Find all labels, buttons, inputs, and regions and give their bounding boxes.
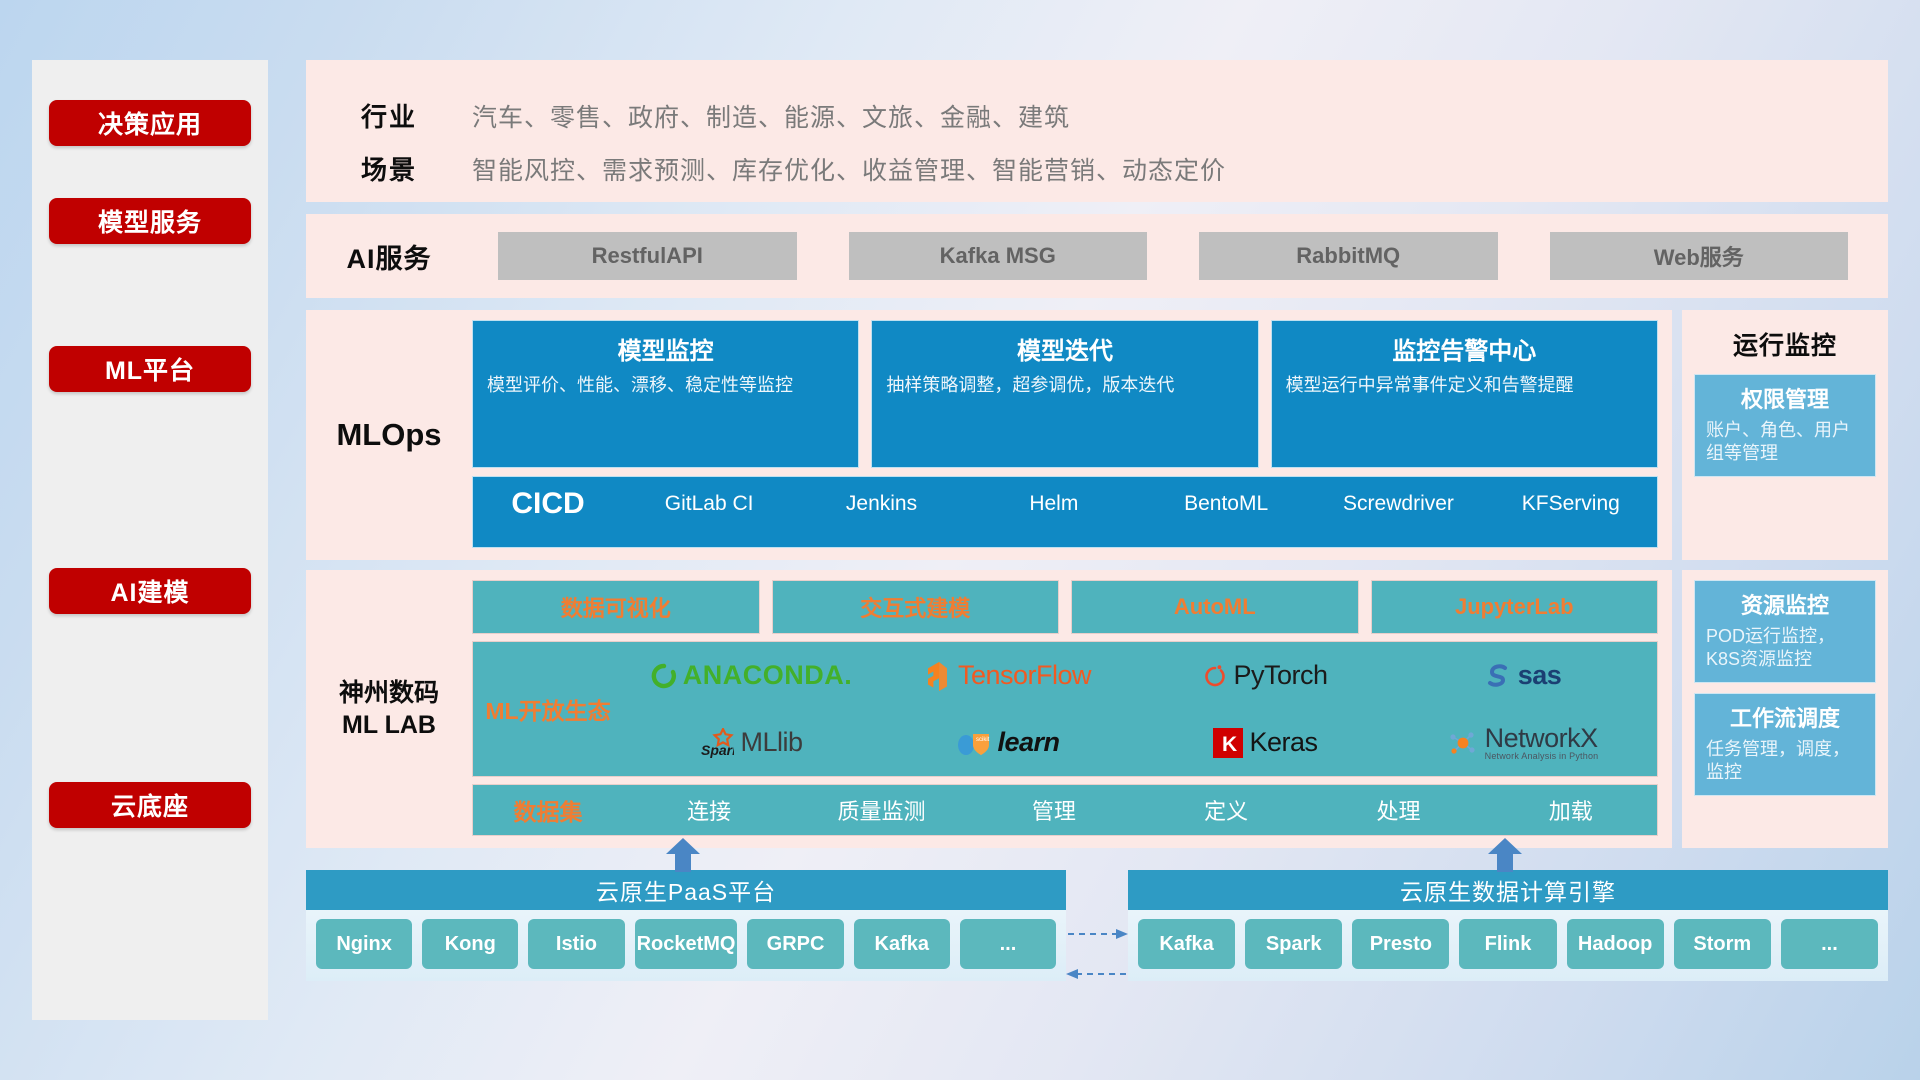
logo-pytorch: PyTorch xyxy=(1203,660,1327,691)
svg-text:Spark: Spark xyxy=(701,742,734,758)
ml-lab-tabs: 数据可视化 交互式建模 AutoML JupyterLab xyxy=(472,580,1658,634)
logo-keras: K Keras xyxy=(1213,727,1317,758)
ai-service-band: AI服务 RestfulAPI Kafka MSG RabbitMQ Web服务 xyxy=(306,214,1888,298)
paas-chip-kong[interactable]: Kong xyxy=(422,919,518,969)
learn-label: learn xyxy=(997,727,1059,758)
tensorflow-icon xyxy=(926,661,952,691)
engine-chip-kafka[interactable]: Kafka xyxy=(1138,919,1235,969)
main-column: 行业 汽车、零售、政府、制造、能源、文旅、金融、建筑 场景 智能风控、需求预测、… xyxy=(306,60,1888,1006)
paas-chip-rocketmq[interactable]: RocketMQ xyxy=(635,919,738,969)
ai-service-chip-web-service[interactable]: Web服务 xyxy=(1550,232,1849,280)
networkx-icon xyxy=(1447,728,1479,758)
mlops-card-alert-center[interactable]: 监控告警中心 模型运行中异常事件定义和告警提醒 xyxy=(1271,320,1658,468)
card-title: 模型迭代 xyxy=(886,331,1243,366)
ai-service-chip-kafka-msg[interactable]: Kafka MSG xyxy=(849,232,1148,280)
networkx-sublabel: Network Analysis in Python xyxy=(1485,752,1599,761)
dataset-item-manage[interactable]: 管理 xyxy=(968,794,1140,826)
engine-chip-presto[interactable]: Presto xyxy=(1352,919,1449,969)
dataset-item-define[interactable]: 定义 xyxy=(1140,794,1312,826)
ml-lab-key-line1: 神州数码 xyxy=(339,677,439,710)
ml-ecosystem-panel: ML开放生态 ANACONDA. xyxy=(472,641,1658,777)
cicd-row: CICD GitLab CI Jenkins Helm BentoML Scre… xyxy=(472,476,1658,548)
ai-service-key: AI服务 xyxy=(306,237,472,276)
up-arrow-icon-paas xyxy=(666,838,700,872)
ml-lab-panel: 神州数码 ML LAB 数据可视化 交互式建模 AutoML JupyterLa… xyxy=(306,570,1672,848)
ml-lab-key: 神州数码 ML LAB xyxy=(306,570,472,848)
up-arrow-icon-data-engine xyxy=(1488,838,1522,872)
tab-jupyterlab[interactable]: JupyterLab xyxy=(1371,580,1659,634)
rail-item-decision-apps[interactable]: 决策应用 xyxy=(49,100,251,146)
ai-service-chip-restfulapi[interactable]: RestfulAPI xyxy=(498,232,797,280)
paas-chip-nginx[interactable]: Nginx xyxy=(316,919,412,969)
paas-chip-istio[interactable]: Istio xyxy=(528,919,624,969)
ml-platform-band: MLOps 模型监控 模型评价、性能、漂移、稳定性等监控 模型迭代 抽样策略调整… xyxy=(306,310,1888,560)
logo-sas: sas xyxy=(1484,660,1562,691)
data-engine-chips: Kafka Spark Presto Flink Hadoop Storm ..… xyxy=(1128,910,1888,981)
ai-service-chip-rabbitmq[interactable]: RabbitMQ xyxy=(1199,232,1498,280)
rail-label: 决策应用 xyxy=(98,105,202,141)
card-title: 权限管理 xyxy=(1706,382,1864,414)
card-desc: POD运行监控，K8S资源监控 xyxy=(1706,625,1864,672)
monitoring-title: 运行监控 xyxy=(1694,326,1876,362)
monitoring-panel-bottom: 资源监控 POD运行监控，K8S资源监控 工作流调度 任务管理，调度，监控 xyxy=(1682,570,1888,848)
card-title: 工作流调度 xyxy=(1706,701,1864,733)
tab-data-visualization[interactable]: 数据可视化 xyxy=(472,580,760,634)
cicd-item-screwdriver[interactable]: Screwdriver xyxy=(1312,485,1484,519)
mlops-card-model-monitoring[interactable]: 模型监控 模型评价、性能、漂移、稳定性等监控 xyxy=(472,320,859,468)
cicd-title: CICD xyxy=(473,485,623,521)
rail-label: 云底座 xyxy=(111,787,189,823)
card-desc: 抽样策略调整，超参调优，版本迭代 xyxy=(886,374,1243,398)
dataset-item-connect[interactable]: 连接 xyxy=(623,794,795,826)
card-desc: 账户、角色、用户组等管理 xyxy=(1706,419,1864,466)
cloud-base-band: 云原生PaaS平台 Nginx Kong Istio RocketMQ GRPC… xyxy=(306,870,1888,1006)
paas-title: 云原生PaaS平台 xyxy=(306,870,1066,910)
dataset-item-process[interactable]: 处理 xyxy=(1312,794,1484,826)
svg-text:scikit: scikit xyxy=(976,737,990,743)
ai-modeling-band: 神州数码 ML LAB 数据可视化 交互式建模 AutoML JupyterLa… xyxy=(306,570,1888,848)
rail-item-model-service[interactable]: 模型服务 xyxy=(49,198,251,244)
mllib-label: MLlib xyxy=(740,727,802,758)
data-engine-title: 云原生数据计算引擎 xyxy=(1128,870,1888,910)
card-title: 模型监控 xyxy=(487,331,844,366)
rail-item-ai-modeling[interactable]: AI建模 xyxy=(49,568,251,614)
cicd-item-gitlab-ci[interactable]: GitLab CI xyxy=(623,485,795,519)
cicd-item-bentoml[interactable]: BentoML xyxy=(1140,485,1312,519)
cicd-item-helm[interactable]: Helm xyxy=(968,485,1140,519)
monitoring-card-resource[interactable]: 资源监控 POD运行监控，K8S资源监控 xyxy=(1694,580,1876,683)
mlops-body: 模型监控 模型评价、性能、漂移、稳定性等监控 模型迭代 抽样策略调整，超参调优，… xyxy=(472,310,1672,560)
logo-spark-mllib: Spark MLlib xyxy=(700,727,802,758)
mlops-card-model-iteration[interactable]: 模型迭代 抽样策略调整，超参调优，版本迭代 xyxy=(871,320,1258,468)
paas-chip-kafka[interactable]: Kafka xyxy=(854,919,950,969)
left-rail: 决策应用 模型服务 ML平台 AI建模 云底座 xyxy=(32,60,268,1020)
diagram-canvas: 决策应用 模型服务 ML平台 AI建模 云底座 行业 汽车、零售、政府、制造、能… xyxy=(0,0,1920,1080)
logo-tensorflow: TensorFlow xyxy=(926,660,1091,691)
keras-icon: K xyxy=(1213,728,1243,758)
card-title: 资源监控 xyxy=(1706,588,1864,620)
keras-label: Keras xyxy=(1249,727,1317,758)
rail-label: AI建模 xyxy=(110,573,189,609)
anaconda-label: ANACONDA. xyxy=(683,660,853,691)
paas-chip-grpc[interactable]: GRPC xyxy=(747,919,843,969)
engine-chip-more[interactable]: ... xyxy=(1781,919,1878,969)
anaconda-icon xyxy=(651,663,677,689)
data-engine-column: 云原生数据计算引擎 Kafka Spark Presto Flink Hadoo… xyxy=(1128,870,1888,1006)
ml-ecosystem-logos: ANACONDA. TensorFlow xyxy=(623,642,1657,776)
card-title: 监控告警中心 xyxy=(1286,331,1643,366)
spark-icon: Spark xyxy=(700,728,734,758)
bidirectional-link-arrows xyxy=(1066,918,1128,990)
ml-lab-key-line2: ML LAB xyxy=(342,709,436,742)
engine-chip-hadoop[interactable]: Hadoop xyxy=(1567,919,1664,969)
rail-label: ML平台 xyxy=(105,351,195,387)
logo-scikit-learn: scikit learn xyxy=(957,727,1059,758)
paas-chip-more[interactable]: ... xyxy=(960,919,1056,969)
mlops-cards: 模型监控 模型评价、性能、漂移、稳定性等监控 模型迭代 抽样策略调整，超参调优，… xyxy=(472,320,1658,468)
scenario-value: 智能风控、需求预测、库存优化、收益管理、智能营销、动态定价 xyxy=(472,151,1226,187)
dataset-row: 数据集 连接 质量监测 管理 定义 处理 加载 xyxy=(472,784,1658,836)
card-desc: 任务管理，调度，监控 xyxy=(1706,738,1864,785)
paas-chips: Nginx Kong Istio RocketMQ GRPC Kafka ... xyxy=(306,910,1066,981)
monitoring-panel-top: 运行监控 权限管理 账户、角色、用户组等管理 xyxy=(1682,310,1888,560)
monitoring-card-permissions[interactable]: 权限管理 账户、角色、用户组等管理 xyxy=(1694,374,1876,477)
logo-anaconda: ANACONDA. xyxy=(651,660,853,691)
engine-chip-storm[interactable]: Storm xyxy=(1674,919,1771,969)
engine-chip-flink[interactable]: Flink xyxy=(1459,919,1556,969)
industry-key: 行业 xyxy=(306,97,472,134)
card-desc: 模型评价、性能、漂移、稳定性等监控 xyxy=(487,374,844,398)
networkx-label: NetworkX xyxy=(1485,725,1599,752)
pytorch-label: PyTorch xyxy=(1233,660,1327,691)
rail-item-cloud-base[interactable]: 云底座 xyxy=(49,782,251,828)
ai-service-items: RestfulAPI Kafka MSG RabbitMQ Web服务 xyxy=(472,232,1888,280)
ml-ecosystem-key: ML开放生态 xyxy=(473,692,623,726)
svg-text:K: K xyxy=(1222,733,1237,756)
pytorch-icon xyxy=(1203,662,1227,690)
card-desc: 模型运行中异常事件定义和告警提醒 xyxy=(1286,374,1643,398)
dataset-item-quality-monitoring[interactable]: 质量监测 xyxy=(795,794,967,826)
logo-networkx: NetworkX Network Analysis in Python xyxy=(1447,725,1599,761)
industry-value: 汽车、零售、政府、制造、能源、文旅、金融、建筑 xyxy=(472,98,1070,134)
scikit-learn-icon: scikit xyxy=(957,728,991,758)
mlops-panel: MLOps 模型监控 模型评价、性能、漂移、稳定性等监控 模型迭代 抽样策略调整… xyxy=(306,310,1672,560)
rail-label: 模型服务 xyxy=(98,203,202,239)
tab-automl[interactable]: AutoML xyxy=(1071,580,1359,634)
monitoring-card-workflow[interactable]: 工作流调度 任务管理，调度，监控 xyxy=(1694,693,1876,796)
rail-item-ml-platform[interactable]: ML平台 xyxy=(49,346,251,392)
industry-row: 行业 汽车、零售、政府、制造、能源、文旅、金融、建筑 xyxy=(306,97,1888,134)
sas-icon xyxy=(1484,663,1512,689)
engine-chip-spark[interactable]: Spark xyxy=(1245,919,1342,969)
cicd-item-jenkins[interactable]: Jenkins xyxy=(795,485,967,519)
tensorflow-label: TensorFlow xyxy=(958,660,1091,691)
scenario-key: 场景 xyxy=(306,150,472,187)
cicd-item-kfserving[interactable]: KFServing xyxy=(1485,485,1657,519)
tab-interactive-modeling[interactable]: 交互式建模 xyxy=(772,580,1060,634)
sas-label: sas xyxy=(1518,660,1562,691)
ml-lab-body: 数据可视化 交互式建模 AutoML JupyterLab ML开放生态 xyxy=(472,570,1672,848)
dataset-key: 数据集 xyxy=(473,793,623,827)
paas-column: 云原生PaaS平台 Nginx Kong Istio RocketMQ GRPC… xyxy=(306,870,1066,1006)
decision-apps-band: 行业 汽车、零售、政府、制造、能源、文旅、金融、建筑 场景 智能风控、需求预测、… xyxy=(306,60,1888,202)
scenario-row: 场景 智能风控、需求预测、库存优化、收益管理、智能营销、动态定价 xyxy=(306,150,1888,187)
mlops-key: MLOps xyxy=(306,310,472,560)
dataset-item-load[interactable]: 加载 xyxy=(1485,794,1657,826)
